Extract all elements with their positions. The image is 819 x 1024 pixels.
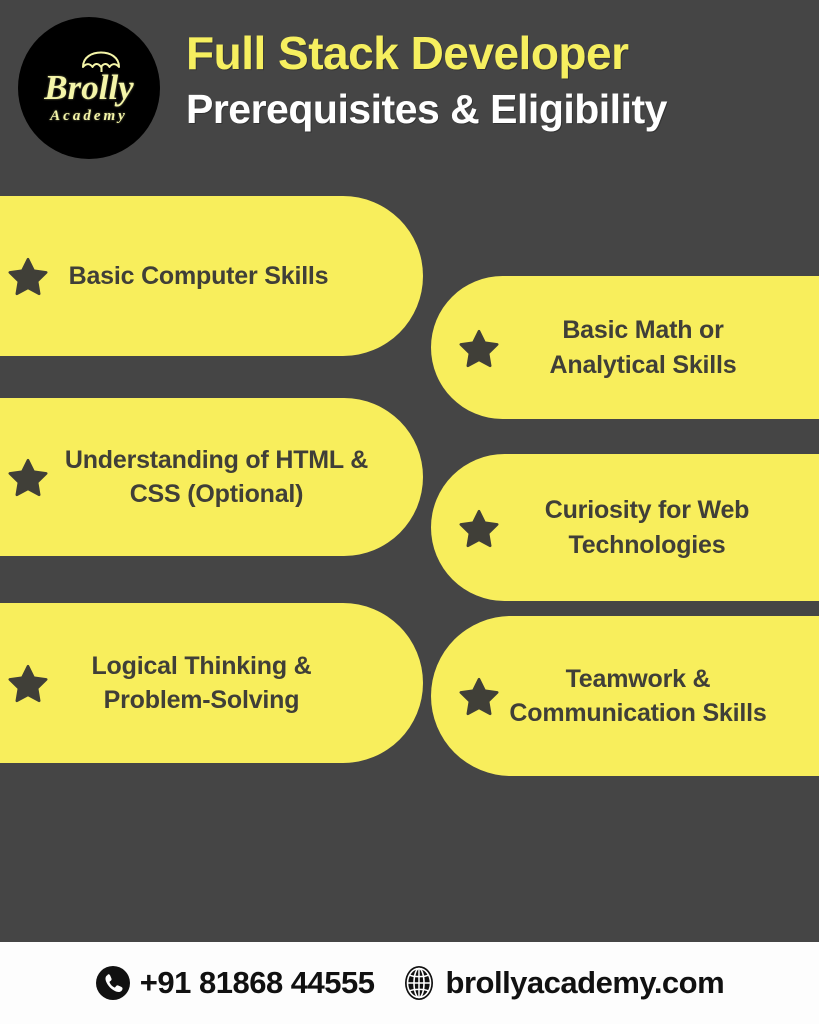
prerequisite-label: Teamwork & Communication Skills bbox=[509, 662, 807, 731]
prerequisite-card-html-css: Understanding of HTML & CSS (Optional) bbox=[0, 398, 423, 556]
infographic-poster: Brolly Academy Full Stack Developer Prer… bbox=[0, 0, 819, 1024]
page-title: Full Stack Developer bbox=[186, 25, 786, 81]
prerequisite-label: Understanding of HTML & CSS (Optional) bbox=[58, 443, 397, 512]
footer-website[interactable]: brollyacademy.com bbox=[401, 965, 725, 1001]
prerequisite-label: Curiosity for Web Technologies bbox=[509, 493, 807, 562]
logo-brand-text: Brolly bbox=[44, 71, 133, 105]
phone-icon bbox=[95, 965, 131, 1001]
prerequisite-card-teamwork: Teamwork & Communication Skills bbox=[431, 616, 819, 776]
footer-phone-text: +91 81868 44555 bbox=[140, 965, 375, 1001]
footer-website-text: brollyacademy.com bbox=[446, 965, 725, 1001]
prerequisite-label: Logical Thinking & Problem-Solving bbox=[58, 649, 397, 718]
prerequisite-card-curiosity-web: Curiosity for Web Technologies bbox=[431, 454, 819, 601]
star-icon bbox=[459, 676, 499, 716]
star-icon bbox=[8, 663, 48, 703]
star-icon bbox=[8, 457, 48, 497]
poster-footer: +91 81868 44555 brollyacademy.com bbox=[0, 942, 819, 1024]
prerequisite-card-basic-math: Basic Math or Analytical Skills bbox=[431, 276, 819, 419]
brolly-academy-logo: Brolly Academy bbox=[18, 17, 160, 159]
prerequisite-card-basic-computer-skills: Basic Computer Skills bbox=[0, 196, 423, 356]
star-icon bbox=[459, 328, 499, 368]
logo-subbrand-text: Academy bbox=[50, 106, 128, 126]
page-subtitle: Prerequisites & Eligibility bbox=[186, 83, 786, 135]
prerequisite-card-logical-thinking: Logical Thinking & Problem-Solving bbox=[0, 603, 423, 763]
footer-phone[interactable]: +91 81868 44555 bbox=[95, 965, 375, 1001]
star-icon bbox=[459, 508, 499, 548]
prerequisite-label: Basic Math or Analytical Skills bbox=[509, 313, 807, 382]
prerequisite-label: Basic Computer Skills bbox=[58, 259, 397, 294]
title-block: Full Stack Developer Prerequisites & Eli… bbox=[186, 25, 786, 135]
star-icon bbox=[8, 256, 48, 296]
globe-icon bbox=[401, 965, 437, 1001]
poster-header: Brolly Academy Full Stack Developer Prer… bbox=[0, 0, 819, 178]
